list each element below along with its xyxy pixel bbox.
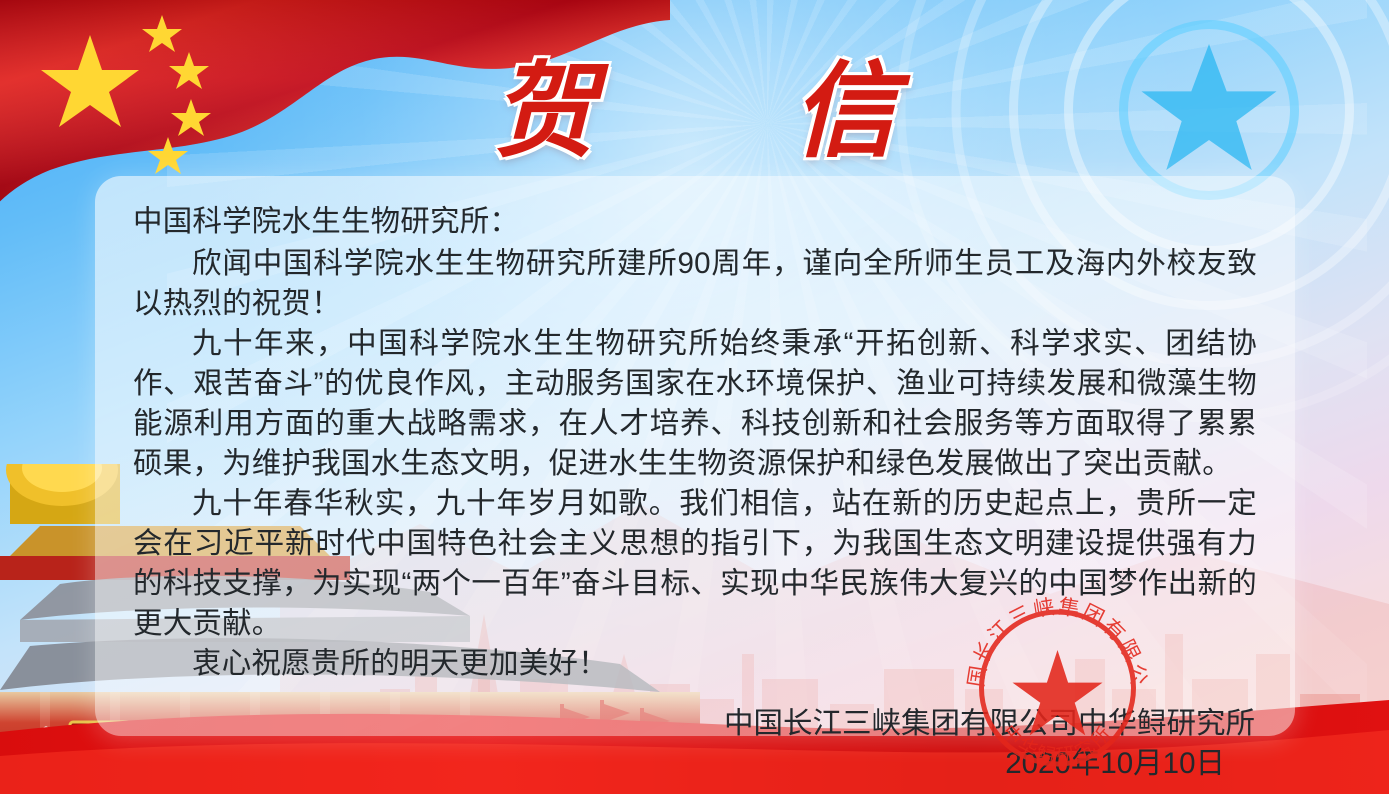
paragraph-3: 九十年春华秋实，九十年岁月如歌。我们相信，站在新的历史起点上，贵所一定会在习近平…: [133, 484, 1257, 644]
letter-card: 中国科学院水生生物研究所： 欣闻中国科学院水生生物研究所建所90周年，谨向全所师…: [95, 176, 1295, 736]
paragraph-4: 衷心祝愿贵所的明天更加美好！: [133, 644, 1257, 684]
paragraph-1: 欣闻中国科学院水生生物研究所建所90周年，谨向全所师生员工及海内外校友致以热烈的…: [133, 244, 1257, 324]
signature-block: 中国长江三峡集团有限公司中华鲟研究所 2020年10月10日: [133, 704, 1257, 784]
signature-organization: 中国长江三峡集团有限公司中华鲟研究所: [133, 704, 1255, 744]
letter-body: 中国科学院水生生物研究所： 欣闻中国科学院水生生物研究所建所90周年，谨向全所师…: [133, 202, 1257, 684]
congratulatory-letter-poster: 中华人民共和国万岁 贺 信 中: [0, 0, 1389, 794]
salutation: 中国科学院水生生物研究所：: [133, 202, 1257, 242]
signature-date: 2020年10月10日: [133, 744, 1255, 784]
page-title: 贺 信: [0, 26, 1389, 177]
paragraph-2: 九十年来，中国科学院水生生物研究所始终秉承“开拓创新、科学求实、团结协作、艰苦奋…: [133, 324, 1257, 484]
